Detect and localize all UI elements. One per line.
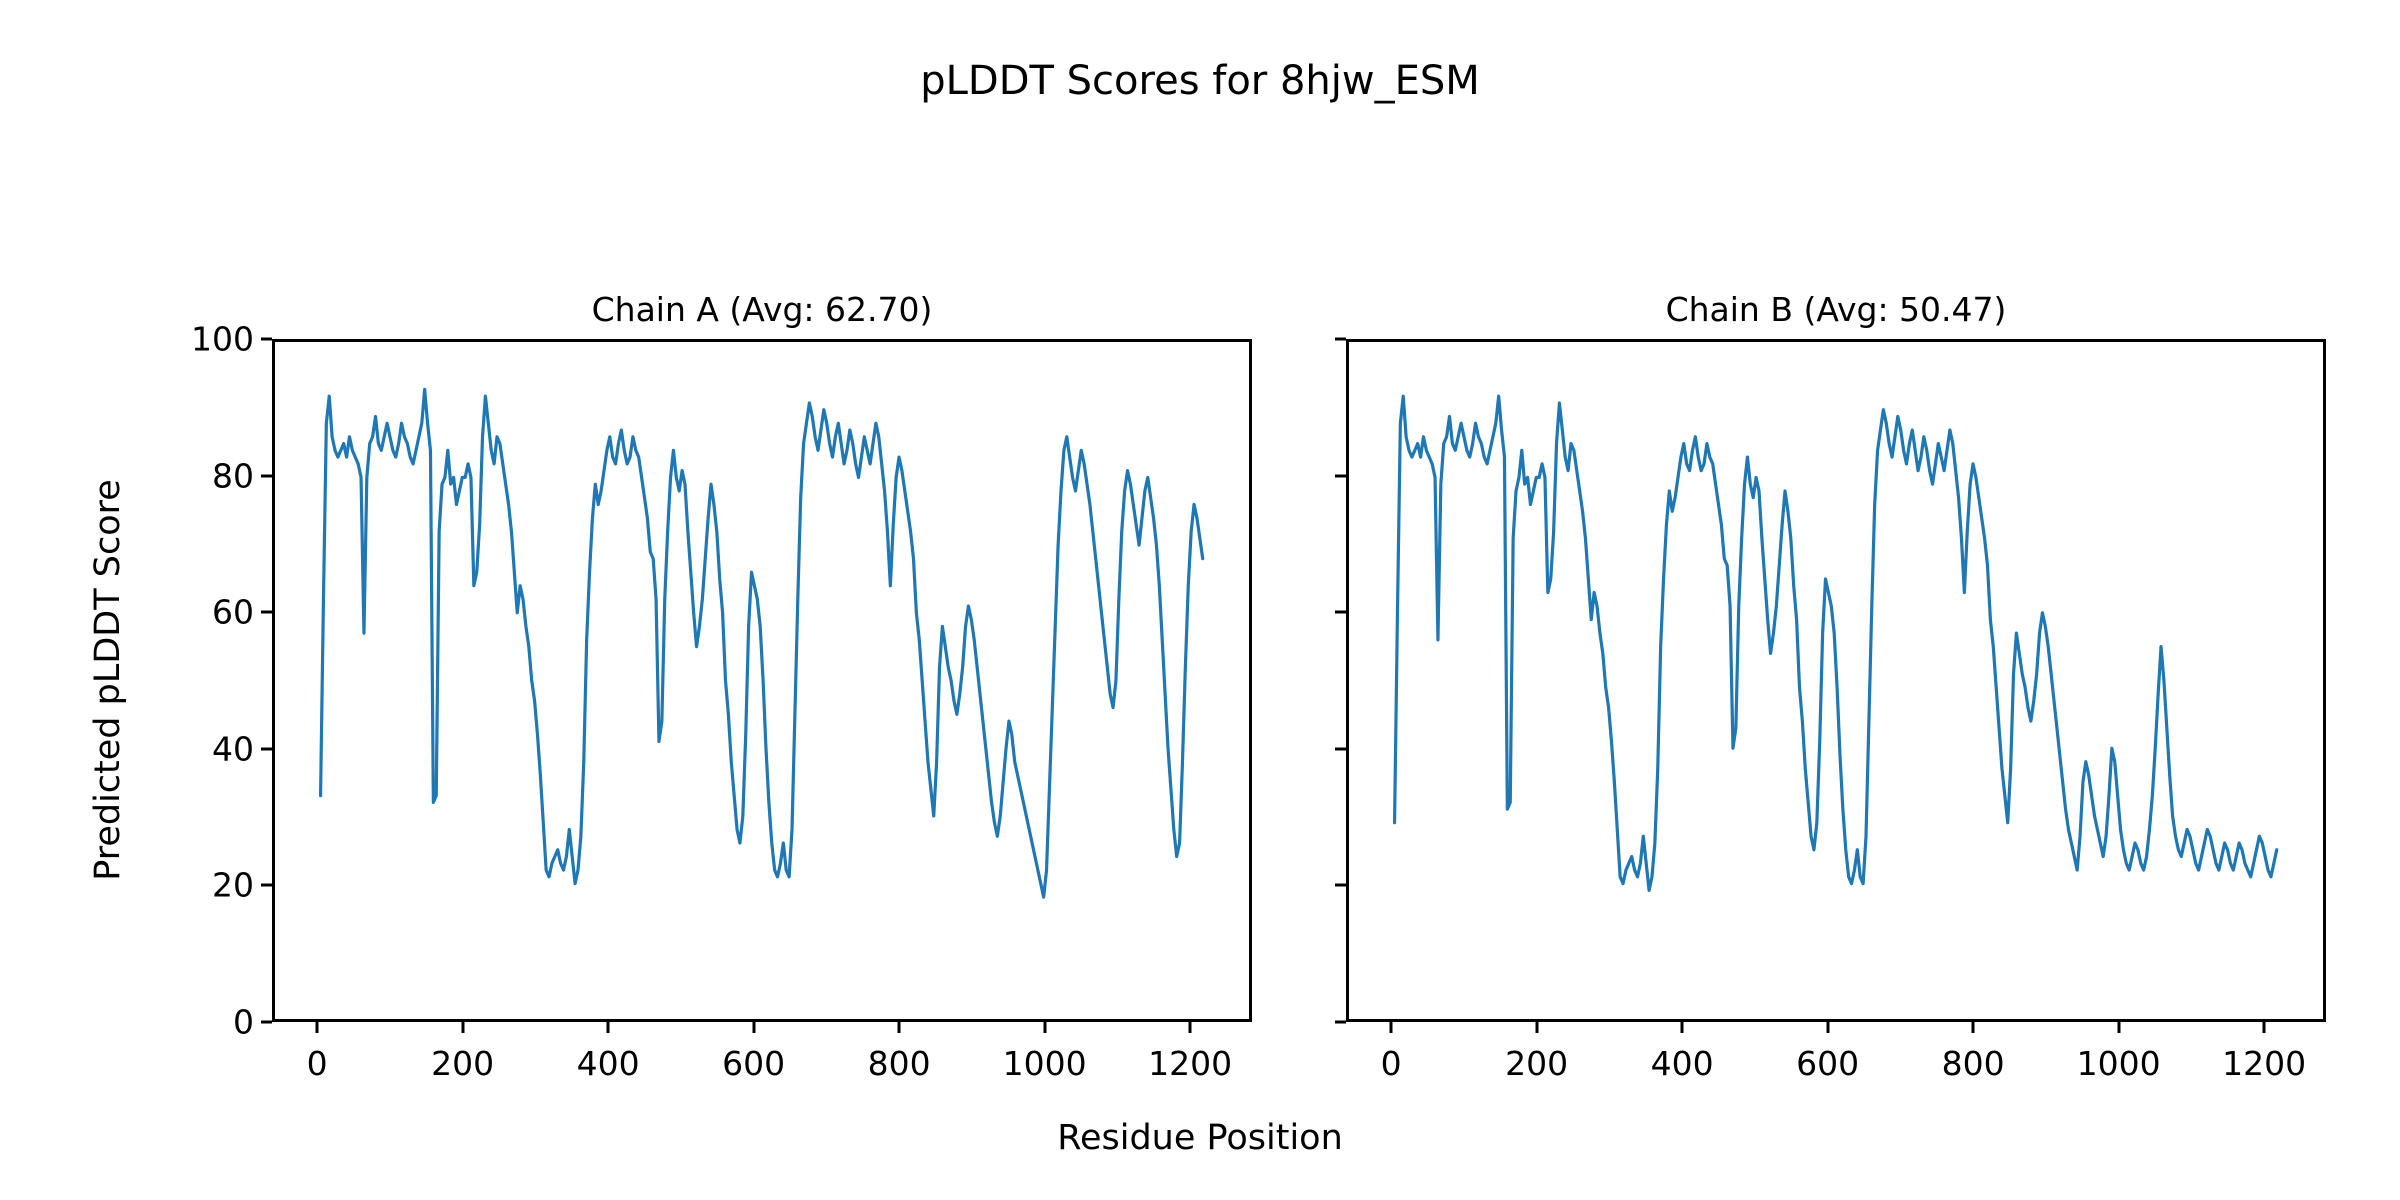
x-tick-label: 0 [307, 1044, 328, 1083]
x-tick-mark [1972, 1022, 1975, 1033]
x-tick-mark [1826, 1022, 1829, 1033]
x-tick-label: 1000 [1003, 1044, 1087, 1083]
x-tick-mark [752, 1022, 755, 1033]
x-tick-mark [1189, 1022, 1192, 1033]
x-tick-label: 600 [722, 1044, 785, 1083]
y-tick-mark [1335, 474, 1346, 477]
y-tick-mark [261, 338, 272, 341]
y-tick-label: 20 [212, 866, 254, 905]
x-tick-mark [2263, 1022, 2266, 1033]
y-tick-mark [1335, 747, 1346, 750]
x-tick-mark [1681, 1022, 1684, 1033]
x-tick-label: 1200 [2222, 1044, 2306, 1083]
y-tick-mark [1335, 338, 1346, 341]
x-tick-label: 200 [1505, 1044, 1568, 1083]
y-tick-label: 0 [233, 1003, 254, 1042]
x-tick-label: 600 [1796, 1044, 1859, 1083]
x-tick-label: 0 [1381, 1044, 1402, 1083]
y-tick-mark [1335, 611, 1346, 614]
y-tick-label: 40 [212, 729, 254, 768]
panel-title-chain-b: Chain B (Avg: 50.47) [1346, 290, 2326, 329]
x-tick-label: 800 [868, 1044, 931, 1083]
plddt-series-a [321, 389, 1203, 897]
x-axis-label: Residue Position [0, 1118, 2400, 1158]
y-tick-label: 60 [212, 593, 254, 632]
x-tick-mark [316, 1022, 319, 1033]
figure-canvas: pLDDT Scores for 8hjw_ESM Predicted pLDD… [0, 0, 2400, 1200]
x-tick-label: 200 [431, 1044, 494, 1083]
y-tick-mark [261, 474, 272, 477]
y-tick-mark [261, 884, 272, 887]
plot-area-chain-b [1346, 339, 2326, 1022]
x-tick-label: 1200 [1148, 1044, 1232, 1083]
y-tick-mark [261, 747, 272, 750]
x-tick-label: 400 [1651, 1044, 1714, 1083]
plot-area-chain-a [272, 339, 1252, 1022]
x-tick-label: 800 [1942, 1044, 2005, 1083]
x-tick-mark [461, 1022, 464, 1033]
x-tick-mark [1390, 1022, 1393, 1033]
x-tick-mark [2117, 1022, 2120, 1033]
x-tick-mark [898, 1022, 901, 1033]
figure-suptitle: pLDDT Scores for 8hjw_ESM [0, 58, 2400, 104]
x-tick-label: 400 [577, 1044, 640, 1083]
y-tick-mark [261, 611, 272, 614]
plot-line-chain-a [275, 342, 1249, 1019]
y-tick-mark [261, 1021, 272, 1024]
y-tick-mark [1335, 884, 1346, 887]
x-tick-mark [1535, 1022, 1538, 1033]
y-tick-label: 100 [191, 320, 254, 359]
y-tick-mark [1335, 1021, 1346, 1024]
x-tick-label: 1000 [2077, 1044, 2161, 1083]
chart-panel-chain-a: Chain A (Avg: 62.70) 0204060801000200400… [272, 339, 1252, 1022]
plddt-series-b [1395, 396, 2277, 890]
x-tick-mark [1043, 1022, 1046, 1033]
y-tick-label: 80 [212, 456, 254, 495]
panel-title-chain-a: Chain A (Avg: 62.70) [272, 290, 1252, 329]
chart-panel-chain-b: Chain B (Avg: 50.47) 0200400600800100012… [1346, 339, 2326, 1022]
y-axis-label: Predicted pLDDT Score [88, 479, 128, 881]
plot-line-chain-b [1349, 342, 2323, 1019]
x-tick-mark [607, 1022, 610, 1033]
